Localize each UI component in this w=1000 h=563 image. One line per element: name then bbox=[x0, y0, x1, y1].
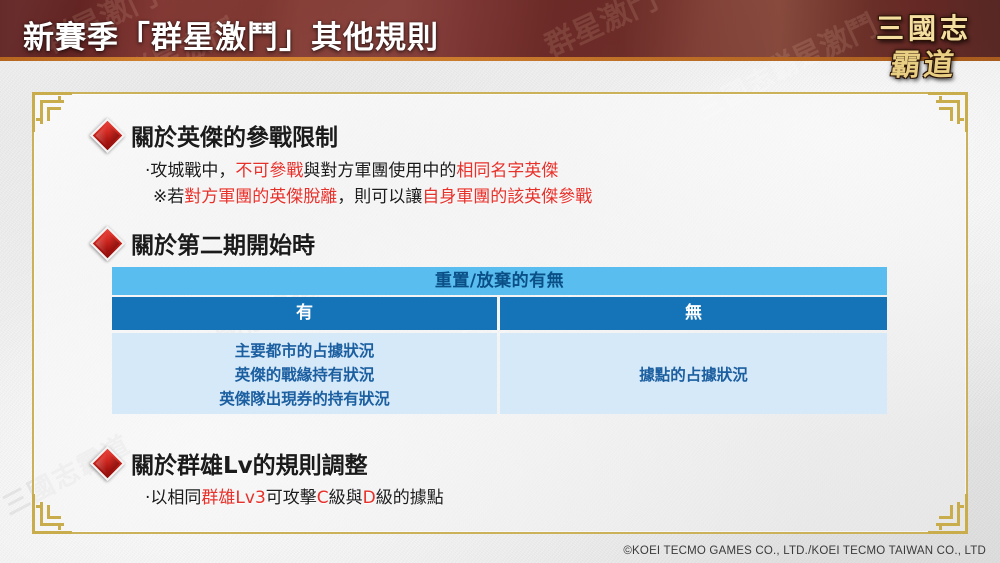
body-text-highlight: C bbox=[317, 488, 329, 508]
section-heading-warlord-level-rules: 關於群雄Lv的規則調整 bbox=[95, 446, 368, 480]
body-text-highlight: 相同名字英傑 bbox=[456, 161, 558, 181]
section-heading-label: 關於群雄Lv的規則調整 bbox=[131, 446, 368, 480]
table-column-header-yes: 有 bbox=[112, 297, 497, 330]
body-text-highlight: 不可參戰 bbox=[235, 161, 303, 181]
red-diamond-icon bbox=[90, 117, 125, 152]
body-text-highlight: 自身軍團的該英傑參戰 bbox=[422, 187, 592, 207]
body-text-highlight: 對方軍團的英傑脫離 bbox=[184, 187, 337, 207]
body-text-prefix: ·攻城戰中， bbox=[145, 161, 235, 181]
section-heading-join-restriction: 關於英傑的參戰限制 bbox=[95, 118, 338, 152]
table-title: 重置/放棄的有無 bbox=[112, 267, 887, 295]
body-line: ·以相同群雄Lv3可攻擊C級與D級的據點 bbox=[145, 483, 444, 508]
table-cell-no: 據點的占據狀況 bbox=[500, 333, 887, 414]
table-column-header-no: 無 bbox=[500, 297, 887, 330]
body-text-highlight: D bbox=[363, 488, 376, 508]
body-text: ，則可以讓 bbox=[337, 187, 422, 207]
section-heading-second-phase-start: 關於第二期開始時 bbox=[95, 226, 315, 260]
slide-content: 關於英傑的參戰限制 ·攻城戰中，不可參戰與對方軍團使用中的相同名字英傑 ※若對方… bbox=[0, 0, 1000, 563]
table-cell-line: 主要都市的占據狀況 bbox=[235, 339, 375, 361]
table-cell-line: 據點的占據狀況 bbox=[639, 363, 748, 385]
body-text: 級的據點 bbox=[376, 488, 444, 508]
body-text: 與對方軍團使用中的 bbox=[303, 161, 456, 181]
section-heading-label: 關於第二期開始時 bbox=[131, 226, 315, 260]
body-line: ·攻城戰中，不可參戰與對方軍團使用中的相同名字英傑 bbox=[145, 156, 558, 181]
body-text-highlight: 群雄Lv3 bbox=[201, 488, 265, 508]
body-line: ※若對方軍團的英傑脫離，則可以讓自身軍團的該英傑參戰 bbox=[153, 182, 592, 207]
reset-abandon-table: 重置/放棄的有無 有 無 主要都市的占據狀況 英傑的戰緣持有狀況 英傑隊出現券的… bbox=[112, 267, 887, 414]
slide-canvas: 三國志霸道 三國志霸道 三國志霸道 三國志霸道 群星激鬥 群星激鬥 群星激鬥 群… bbox=[0, 0, 1000, 563]
red-diamond-icon bbox=[90, 445, 125, 480]
body-text: 級與 bbox=[329, 488, 363, 508]
table-cell-line: 英傑的戰緣持有狀況 bbox=[235, 363, 375, 385]
table-row: 主要都市的占據狀況 英傑的戰緣持有狀況 英傑隊出現券的持有狀況 據點的占據狀況 bbox=[112, 333, 887, 414]
copyright-notice: ©KOEI TECMO GAMES CO., LTD./KOEI TECMO T… bbox=[623, 545, 986, 557]
red-diamond-icon bbox=[90, 225, 125, 260]
table-cell-line: 英傑隊出現券的持有狀況 bbox=[219, 387, 390, 409]
body-text-prefix: ·以相同 bbox=[145, 488, 201, 508]
body-text: 可攻擊 bbox=[266, 488, 317, 508]
table-cell-yes: 主要都市的占據狀況 英傑的戰緣持有狀況 英傑隊出現券的持有狀況 bbox=[112, 333, 497, 414]
section-heading-label: 關於英傑的參戰限制 bbox=[131, 118, 338, 152]
body-text-prefix: ※若 bbox=[153, 187, 184, 207]
table-header-row: 有 無 bbox=[112, 297, 887, 330]
